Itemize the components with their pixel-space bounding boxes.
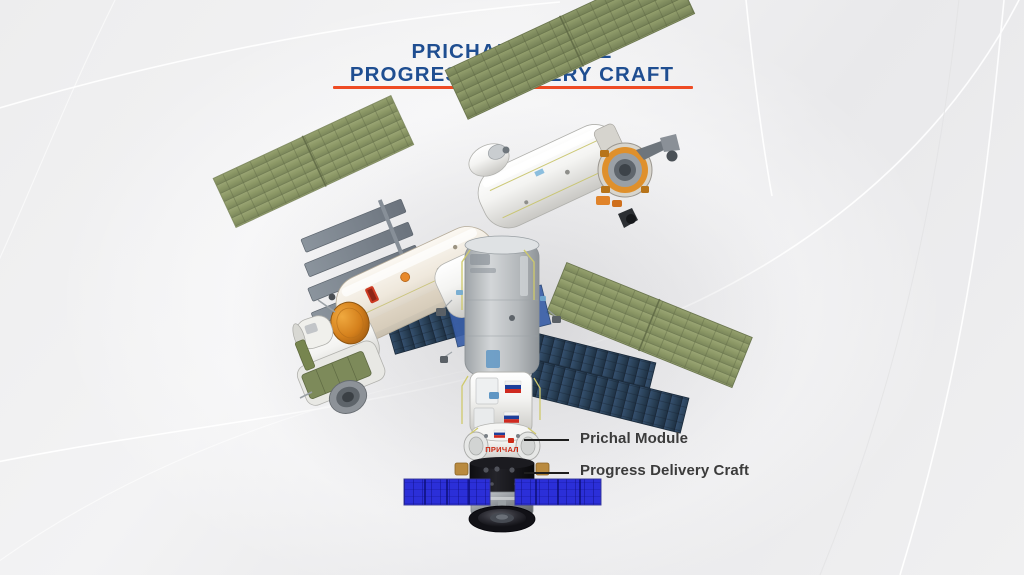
flag-russia-lower [504,412,519,423]
flag-russia-upper [505,381,521,393]
spacecraft-illustration: ПРИЧАЛ [0,0,1024,575]
leader-line-progress [524,472,569,474]
prichal-nameplate: ПРИЧАЛ [485,445,519,454]
leader-line-prichal [524,439,569,441]
progress-solar-array-right [515,479,601,505]
solar-array-lower-right [445,0,695,120]
module-central-upper [462,236,539,375]
prichal-module: ПРИЧАЛ [464,423,540,463]
callout-label-prichal-module: Prichal Module [580,430,688,447]
progress-solar-array-left [404,479,490,505]
infographic-canvas: PRICHAL MODULE PROGRESS DELIVERY CRAFT [0,0,1024,575]
callout-label-progress-delivery-craft: Progress Delivery Craft [580,462,749,479]
